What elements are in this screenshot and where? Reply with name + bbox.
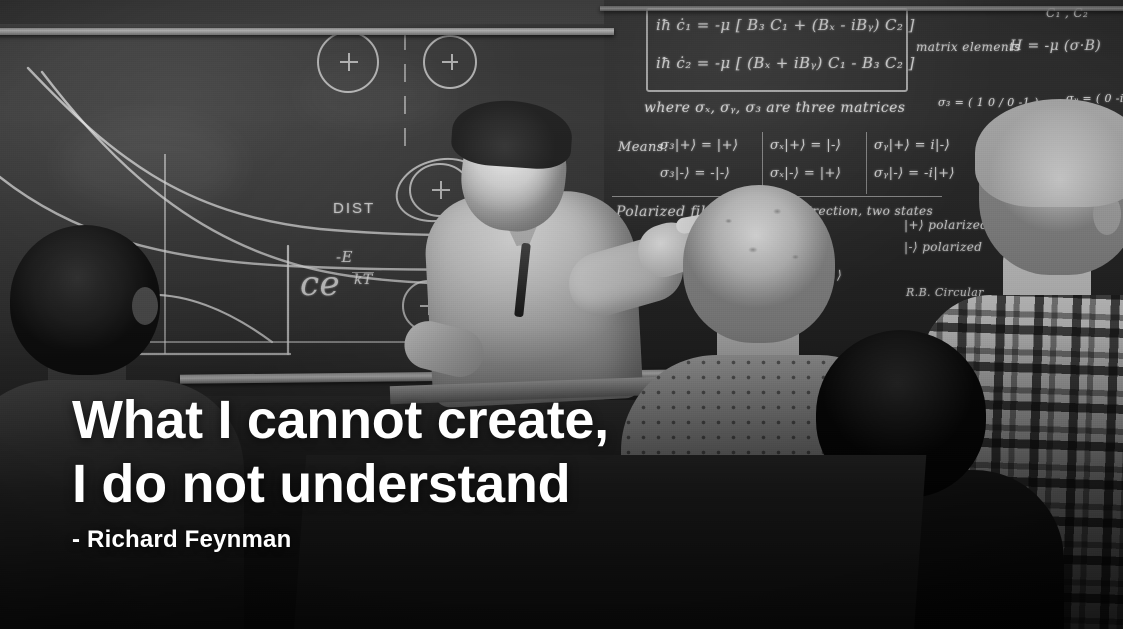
quote-image: DIST ce -E kT iħ ċ₁ = -μ [ B₃ C₁ + (Bₓ -… <box>0 0 1123 629</box>
quote-text: What I cannot create, I do not understan… <box>72 388 609 516</box>
quote-attribution: - Richard Feynman <box>72 526 291 554</box>
quote-line-1: What I cannot create, <box>72 388 609 452</box>
quote-line-2: I do not understand <box>72 452 609 516</box>
